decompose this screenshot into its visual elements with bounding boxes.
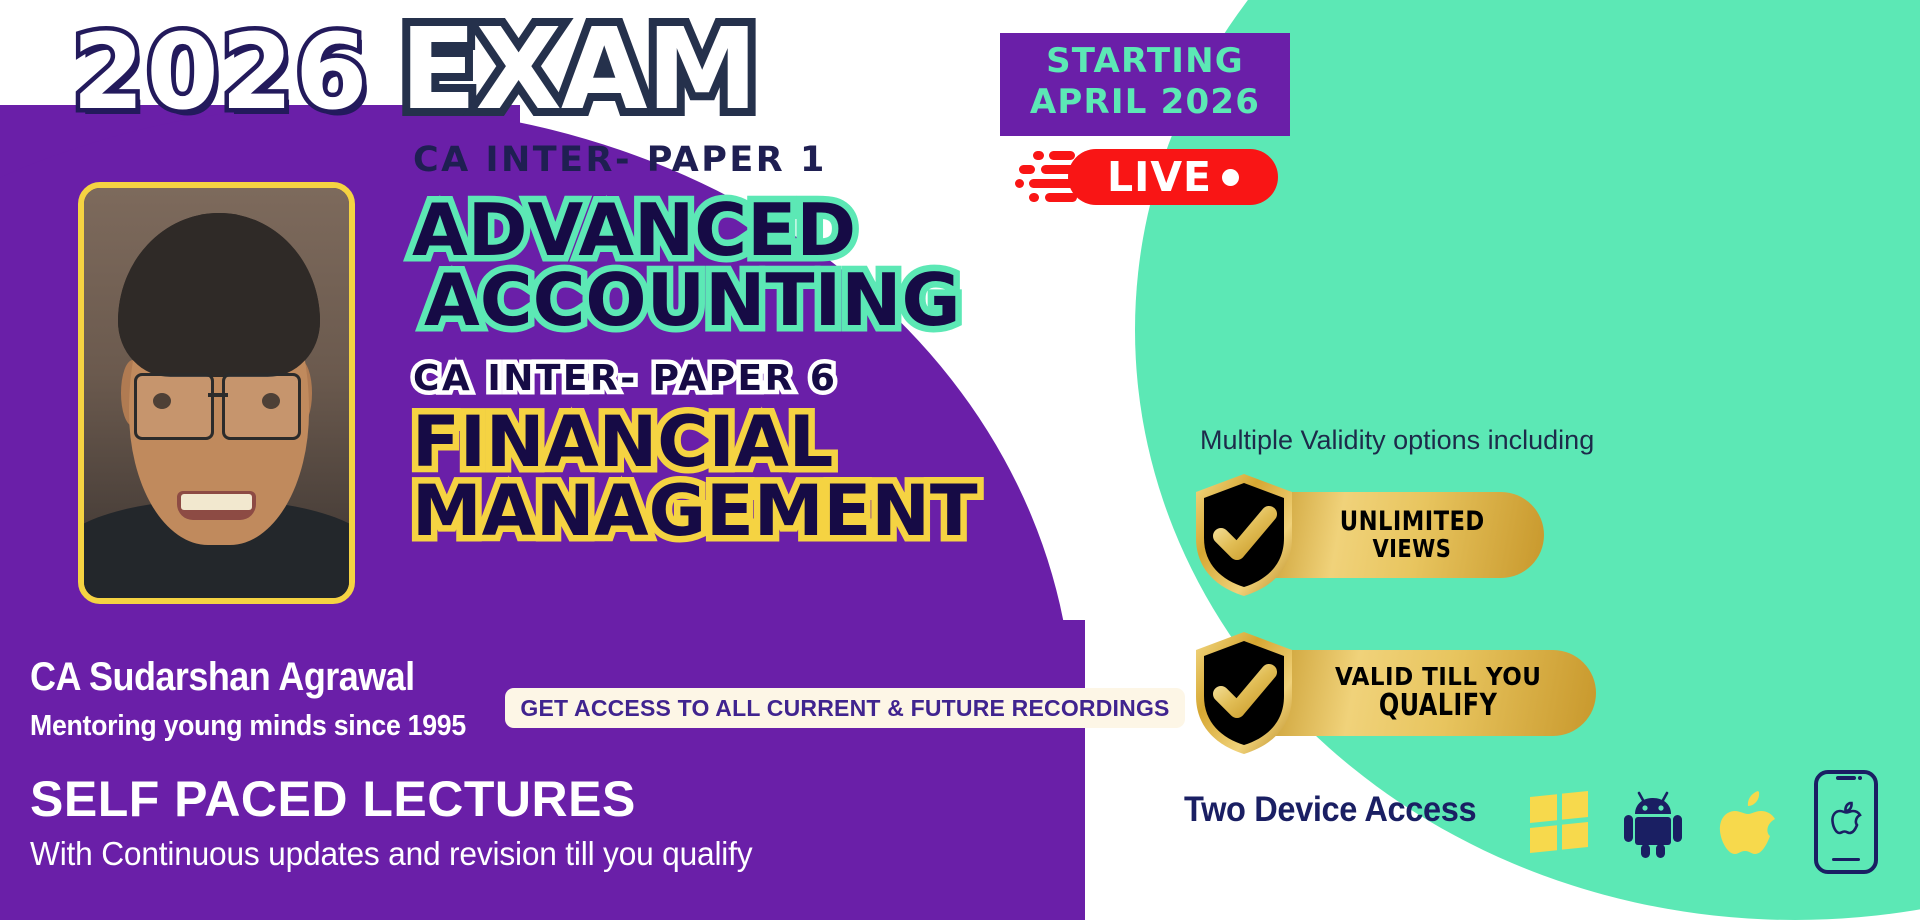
live-dot-icon xyxy=(1222,169,1239,186)
validity-pill-1: UNLIMITED VIEWS xyxy=(1262,492,1544,578)
two-device-access-label: Two Device Access xyxy=(1184,790,1476,830)
instructor-portrait-frame xyxy=(78,182,355,604)
course-title-financial-management: FINANCIAL MANAGEMENT xyxy=(412,408,978,545)
promo-banner: 2026 EXAM CA INTER- PAPER 1 STARTING APR… xyxy=(0,0,1920,920)
validity-badge-1-line2: VIEWS xyxy=(1373,536,1452,562)
os-icons-group xyxy=(1530,770,1878,874)
windows-icon xyxy=(1530,791,1588,853)
validity-heading: Multiple Validity options including xyxy=(1200,425,1594,456)
live-badge: LIVE xyxy=(1015,148,1305,206)
instructor-name: CA Sudarshan Agrawal xyxy=(30,655,415,700)
course2-line2: MANAGEMENT xyxy=(412,477,978,546)
instructor-photo xyxy=(84,188,349,598)
course1-line1: ADVANCED xyxy=(412,196,961,266)
starting-badge-line1: STARTING xyxy=(1000,41,1290,82)
course1-line2: ACCOUNTING xyxy=(424,266,961,336)
live-pill: LIVE xyxy=(1068,149,1278,205)
access-ribbon: GET ACCESS TO ALL CURRENT & FUTURE RECOR… xyxy=(505,688,1185,728)
paper-1-label: CA INTER- PAPER 1 xyxy=(413,140,827,180)
paper-6-label: CA INTER- PAPER 6 xyxy=(413,358,837,399)
exam-year: 2026 xyxy=(72,20,369,124)
instructor-tagline: Mentoring young minds since 1995 xyxy=(30,710,466,743)
shield-check-icon xyxy=(1192,630,1296,756)
live-label: LIVE xyxy=(1107,157,1212,198)
validity-badge-2-line2: QUALIFY xyxy=(1379,690,1498,722)
validity-badge-1-line1: UNLIMITED xyxy=(1340,508,1485,536)
exam-word: EXAM xyxy=(400,14,757,126)
starting-date-badge: STARTING APRIL 2026 xyxy=(1000,33,1290,136)
validity-badge-unlimited-views: UNLIMITED VIEWS xyxy=(1192,472,1544,598)
android-icon xyxy=(1622,786,1684,858)
validity-pill-2: VALID TILL YOU QUALIFY xyxy=(1262,650,1596,736)
eyeglasses-icon xyxy=(134,373,301,435)
course2-line1: FINANCIAL xyxy=(412,408,978,477)
apple-icon xyxy=(1718,786,1780,858)
starting-badge-line2: APRIL 2026 xyxy=(1000,82,1290,123)
self-paced-title: SELF PACED LECTURES xyxy=(30,770,636,828)
self-paced-subtitle: With Continuous updates and revision til… xyxy=(30,835,752,873)
course-title-advanced-accounting: ADVANCED ACCOUNTING xyxy=(412,196,961,336)
validity-badge-2-line1: VALID TILL YOU xyxy=(1335,664,1541,690)
smartphone-icon xyxy=(1814,770,1878,874)
shield-check-icon xyxy=(1192,472,1296,598)
validity-badge-valid-till-qualify: VALID TILL YOU QUALIFY xyxy=(1192,630,1596,756)
access-ribbon-label: GET ACCESS TO ALL CURRENT & FUTURE RECOR… xyxy=(520,695,1169,722)
